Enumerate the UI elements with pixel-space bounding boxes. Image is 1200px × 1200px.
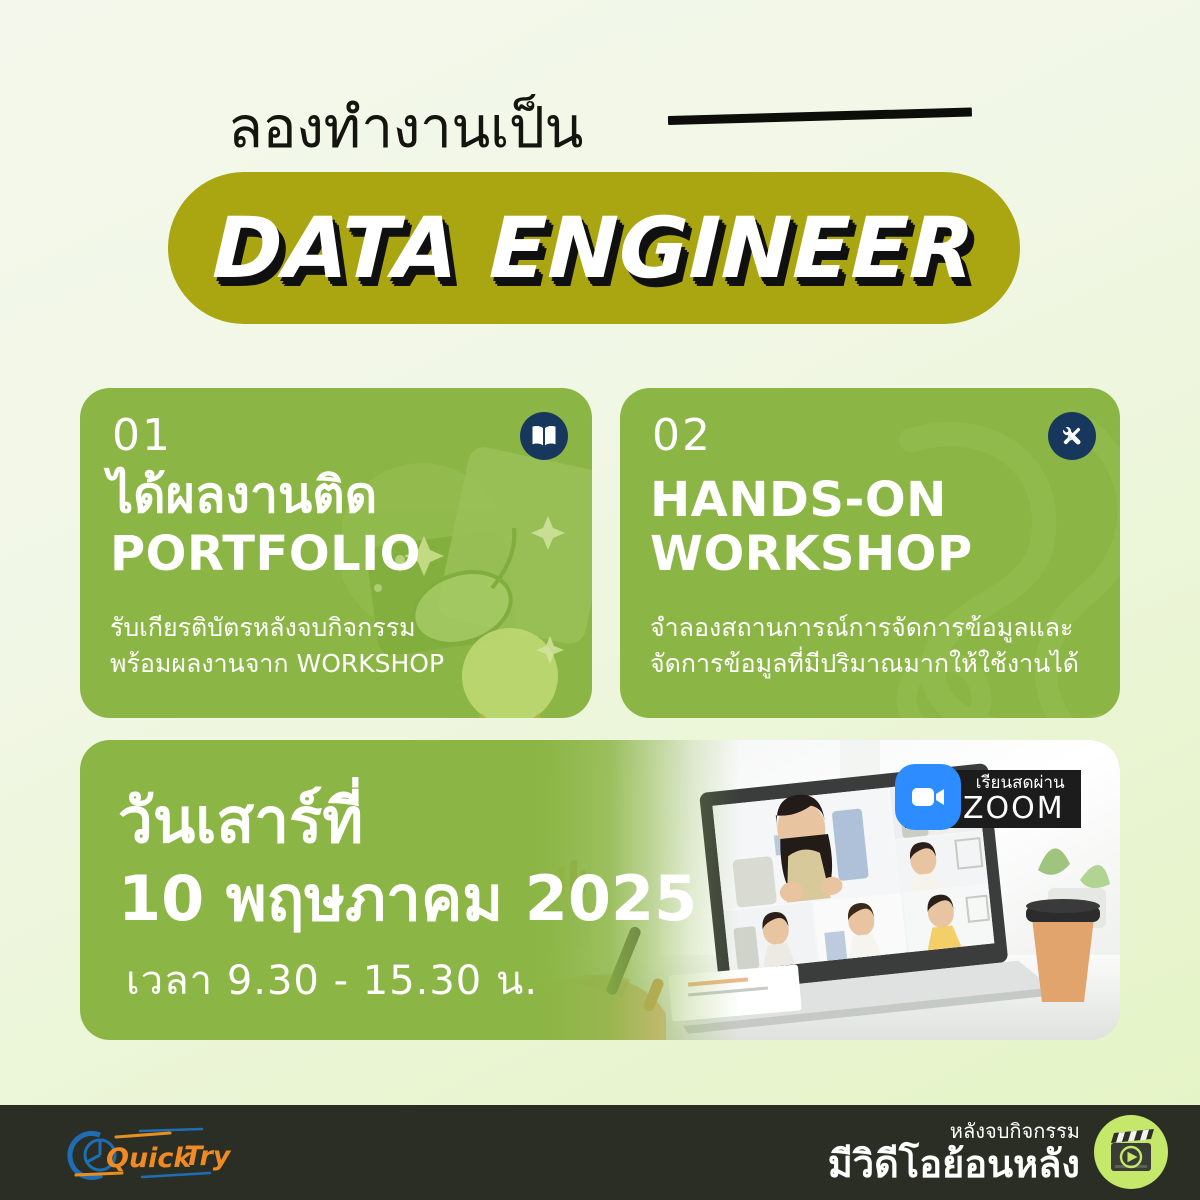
card-subtext-02-line2: จัดการข้อมูลที่มีปริมาณมากให้ใช้งานได้ [650,646,1079,682]
footer-promo: หลังจบกิจกรรม มีวิดีโอย้อนหลัง [828,1115,1168,1189]
zoom-badge-text: เรียนสดผ่าน ZOOM [963,775,1065,824]
wrench-screwdriver-icon [1058,422,1086,450]
poster-canvas: ลองทำงานเป็น DATA ENGINEER 01 ได้ผลงานติ… [0,0,1200,1200]
clapperboard-glyph [1105,1127,1157,1177]
card-number-01: 01 [112,410,172,461]
video-camera-glyph [911,786,945,808]
footer-promo-big-text: มีวิดีโอย้อนหลัง [828,1145,1080,1183]
clapperboard-play-icon [1094,1115,1168,1189]
date-day-label: วันเสาร์ที่ [118,790,363,852]
page-title: DATA ENGINEER [165,172,1022,324]
svg-text:Try: Try [184,1141,232,1172]
horizontal-rule-icon [668,108,972,125]
card-heading-en-01: PORTFOLIO [110,530,421,578]
date-time-label: เวลา 9.30 - 15.30 น. [126,948,538,1012]
header-row: ลองทำงานเป็น [0,88,1200,168]
card-subtext-01-line1: รับเกียรติบัตรหลังจบกิจกรรม [110,610,444,646]
feature-card-01: 01 ได้ผลงานติด PORTFOLIO รับเกียรติบัตรห… [80,388,592,718]
card-heading-en-02-line2: WORKSHOP [650,530,973,578]
svg-text:Quick: Quick [106,1143,193,1174]
card-icon-badge-01 [520,412,568,460]
zoom-badge-platform: ZOOM [963,794,1065,824]
date-full-label: 10 พฤษภาคม 2025 [118,868,697,930]
card-subtext-01-line2: พร้อมผลงานจาก WORKSHOP [110,646,444,682]
footer-bar: Quick Try หลังจบกิจกรรม มีวิดีโอย้อนหลัง [0,1105,1200,1200]
zoom-badge-pretext: เรียนสดผ่าน [976,775,1065,792]
quicktry-logo[interactable]: Quick Try [42,1123,252,1185]
open-book-icon [530,424,558,448]
card-heading-thai-01: ได้ผลงานติด [108,470,377,521]
zoom-video-camera-icon [895,764,961,830]
footer-promo-small-text: หลังจบกิจกรรม [950,1121,1080,1141]
quicktry-logo-graphic: Quick Try [42,1123,252,1185]
card-heading-en-02-line1: HANDS-ON [650,476,947,524]
header-eyebrow-thai: ลองทำงานเป็น [228,88,583,168]
zoom-badge: เรียนสดผ่าน ZOOM [905,770,1081,828]
title-banner: DATA ENGINEER [168,172,1020,324]
feature-card-02: 02 HANDS-ON WORKSHOP จำลองสถานการณ์การจั… [620,388,1120,718]
card-number-02: 02 [652,410,712,461]
card-subtext-02-line1: จำลองสถานการณ์การจัดการข้อมูลและ [650,610,1079,646]
card-subtext-01: รับเกียรติบัตรหลังจบกิจกรรม พร้อมผลงานจา… [110,610,444,683]
card-icon-badge-02 [1048,412,1096,460]
card-subtext-02: จำลองสถานการณ์การจัดการข้อมูลและ จัดการข… [650,610,1079,683]
footer-promo-text: หลังจบกิจกรรม มีวิดีโอย้อนหลัง [828,1121,1080,1183]
